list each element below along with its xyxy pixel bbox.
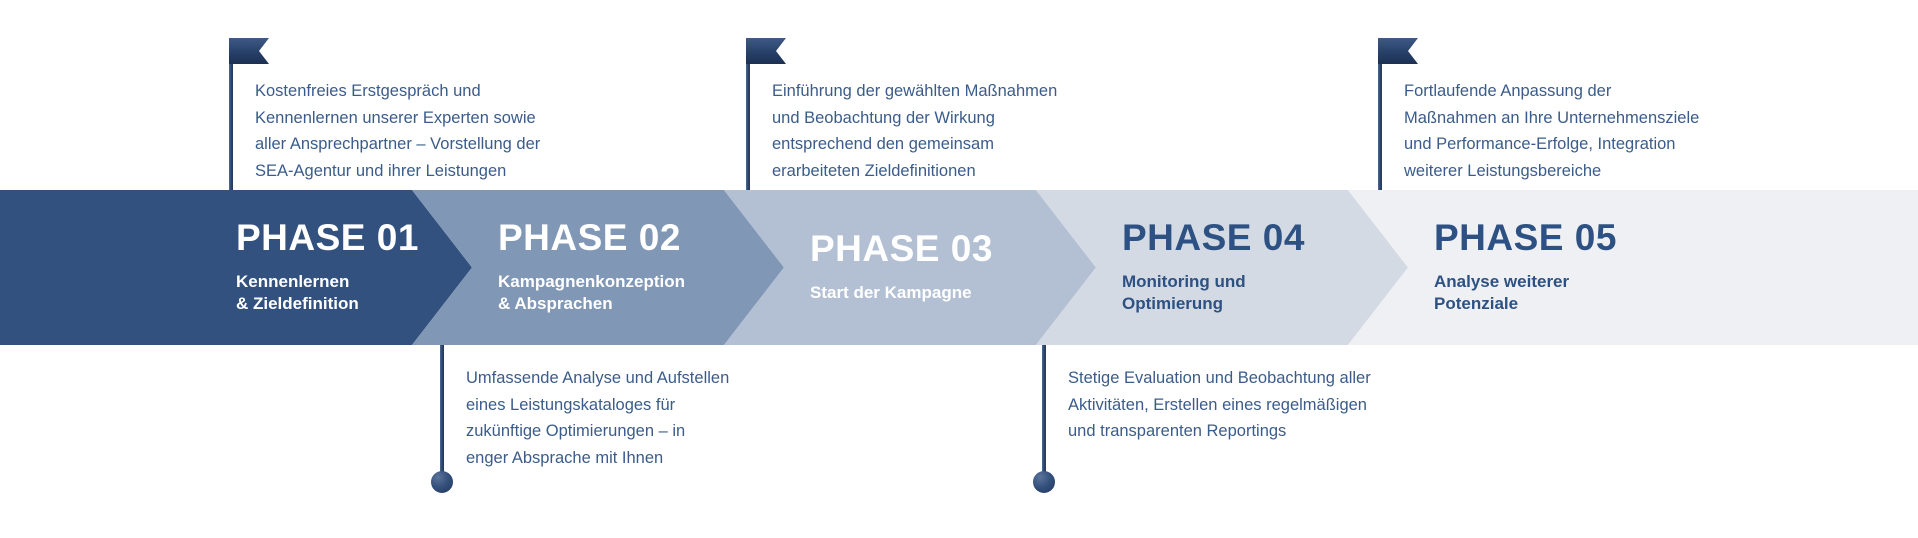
phase-subtitle: Kennenlernen & Zieldefinition xyxy=(236,271,472,316)
process-timeline-diagram: Kostenfreies Erstgespräch und Kennenlern… xyxy=(0,0,1918,538)
phase-subtitle: Monitoring und Optimierung xyxy=(1122,271,1408,316)
callout-stem xyxy=(229,50,233,198)
callout-text: Stetige Evaluation und Beobachtung aller… xyxy=(1068,365,1488,445)
callout-phase-03: Einführung der gewählten Maßnahmen und B… xyxy=(746,38,1176,198)
callout-text: Kostenfreies Erstgespräch und Kennenlern… xyxy=(255,78,655,185)
phase-subtitle: Analyse weiterer Potenziale xyxy=(1434,271,1918,316)
phase-subtitle: Start der Kampagne xyxy=(810,282,1096,304)
callout-stem xyxy=(1378,50,1382,198)
callout-text: Einführung der gewählten Maßnahmen und B… xyxy=(772,78,1172,185)
phase-banner: PHASE 01 Kennenlernen & Zieldefinition P… xyxy=(0,190,1918,345)
callout-phase-02: Umfassende Analyse und Aufstellen eines … xyxy=(440,345,870,495)
flag-icon xyxy=(746,38,786,64)
phase-01[interactable]: PHASE 01 Kennenlernen & Zieldefinition xyxy=(0,190,472,345)
flag-icon xyxy=(1378,38,1418,64)
callout-stem xyxy=(1042,345,1046,480)
phase-05[interactable]: PHASE 05 Analyse weiterer Potenziale xyxy=(1348,190,1918,345)
phase-title: PHASE 05 xyxy=(1434,219,1918,258)
dot-icon xyxy=(431,471,453,493)
callout-text: Umfassende Analyse und Aufstellen eines … xyxy=(466,365,866,472)
callout-stem xyxy=(440,345,444,480)
flag-icon xyxy=(229,38,269,64)
callout-phase-05: Fortlaufende Anpassung der Maßnahmen an … xyxy=(1378,38,1828,198)
callout-phase-04: Stetige Evaluation und Beobachtung aller… xyxy=(1042,345,1492,495)
phase-subtitle: Kampagnenkonzeption & Absprachen xyxy=(498,271,784,316)
phase-title: PHASE 03 xyxy=(810,230,1096,269)
callout-stem xyxy=(746,50,750,198)
dot-icon xyxy=(1033,471,1055,493)
phase-title: PHASE 04 xyxy=(1122,219,1408,258)
phase-title: PHASE 02 xyxy=(498,219,784,258)
phase-title: PHASE 01 xyxy=(236,219,472,258)
callout-text: Fortlaufende Anpassung der Maßnahmen an … xyxy=(1404,78,1824,185)
callout-phase-01: Kostenfreies Erstgespräch und Kennenlern… xyxy=(229,38,659,198)
